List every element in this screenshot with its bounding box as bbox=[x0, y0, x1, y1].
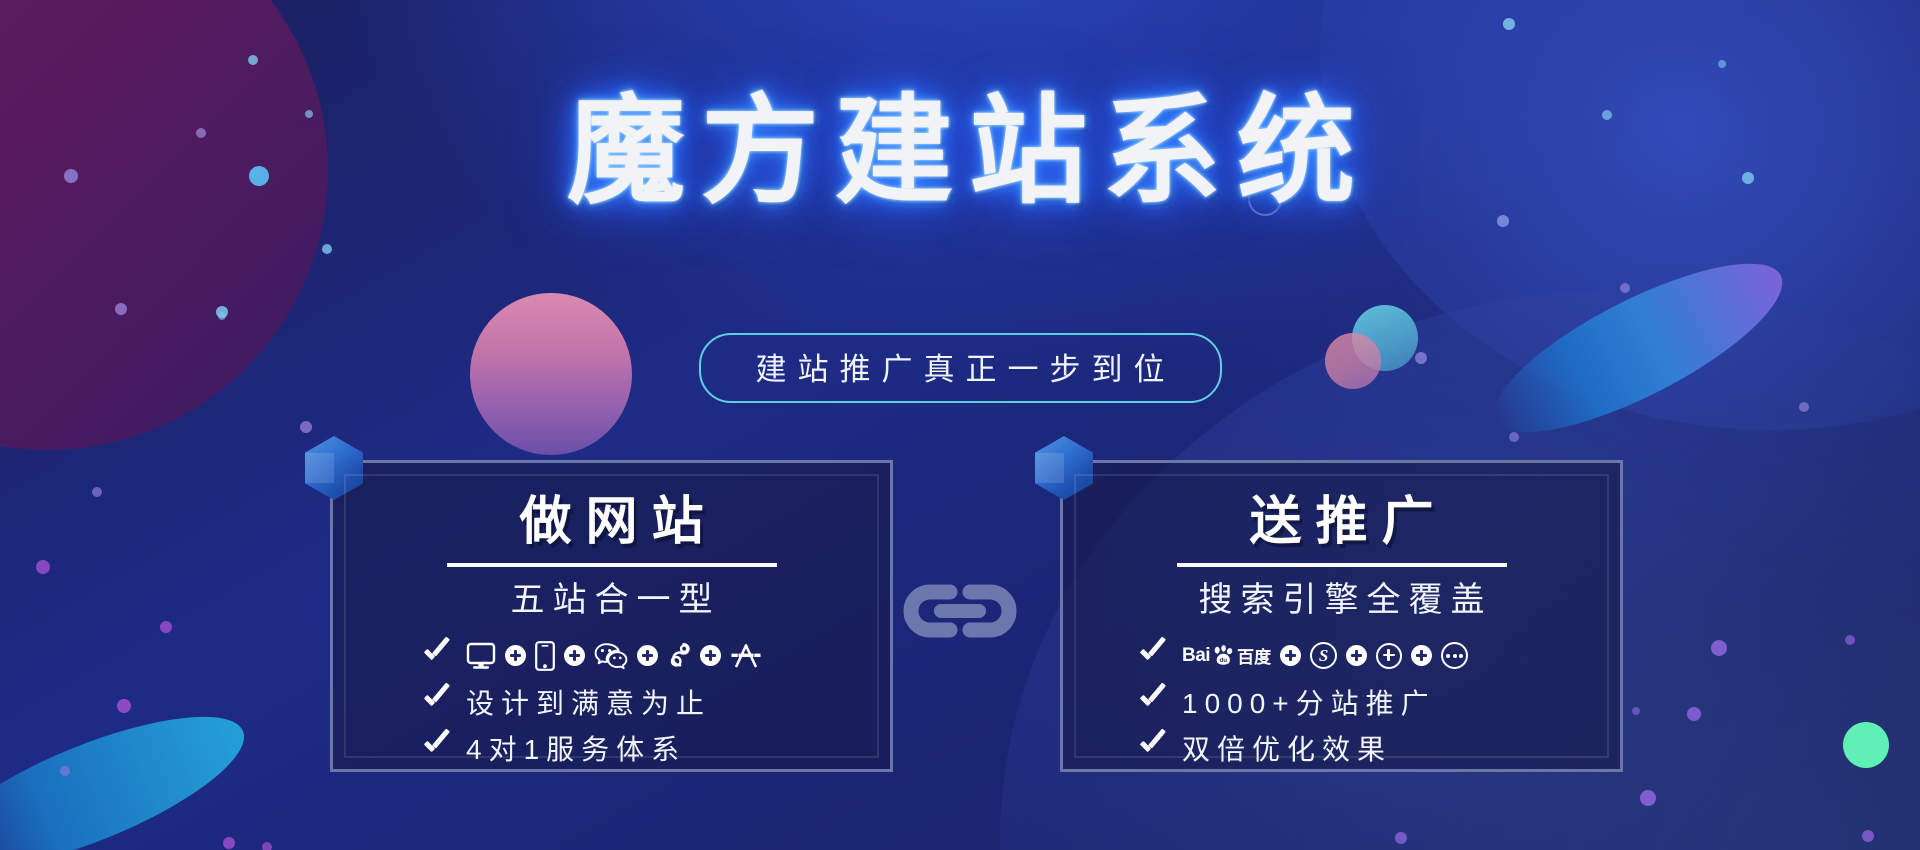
decor-dot bbox=[1718, 60, 1726, 68]
check-icon bbox=[422, 691, 452, 713]
panel-left-title: 做网站 bbox=[346, 492, 877, 552]
decor-dot bbox=[1862, 830, 1874, 842]
check-icon bbox=[1138, 691, 1168, 713]
bullet-row: 1000+分站推广 bbox=[1138, 681, 1607, 723]
subtitle-block: 建站推广真正一步到位 bbox=[0, 333, 1920, 403]
bullet-row-icons: Bai du 百 bbox=[1138, 635, 1607, 677]
weibo-icon bbox=[667, 641, 691, 671]
decor-dot bbox=[218, 312, 226, 320]
bullet-row: 4对1服务体系 bbox=[422, 727, 877, 769]
appstore-icon bbox=[730, 642, 762, 670]
baidu-icon: Bai du 百 bbox=[1182, 643, 1271, 669]
panel-left-bullets: 设计到满意为止 4对1服务体系 bbox=[346, 635, 877, 769]
panel-right-divider bbox=[1177, 563, 1507, 567]
decor-dot bbox=[1799, 402, 1809, 412]
link-icon bbox=[900, 578, 1020, 644]
main-title: 魔方建站系统 bbox=[549, 88, 1371, 215]
plus-icon bbox=[637, 645, 658, 666]
subtitle-pill: 建站推广真正一步到位 bbox=[699, 333, 1222, 403]
plus-icon bbox=[505, 645, 526, 666]
decor-dot bbox=[1640, 790, 1656, 806]
check-icon bbox=[1138, 737, 1168, 759]
decor-dot bbox=[262, 842, 272, 850]
bullet-row-icons bbox=[422, 635, 877, 677]
svg-text:du: du bbox=[1220, 657, 1228, 664]
monitor-icon bbox=[466, 642, 496, 670]
panel-left-inner: 做网站 五站合一型 bbox=[344, 474, 879, 758]
plus-icon bbox=[1411, 645, 1432, 666]
decor-dot bbox=[300, 421, 312, 433]
more-icon bbox=[1441, 642, 1468, 669]
plus-icon bbox=[1280, 645, 1301, 666]
bullet-row: 双倍优化效果 bbox=[1138, 727, 1607, 769]
platform-icon-row bbox=[466, 641, 762, 671]
bullet-text: 1000+分站推广 bbox=[1182, 682, 1436, 722]
panel-left-subtitle: 五站合一型 bbox=[346, 578, 877, 622]
decor-dot bbox=[1497, 215, 1509, 227]
wechat-icon bbox=[594, 642, 628, 670]
decor-dot bbox=[1395, 832, 1407, 844]
baidu-latin-text: Bai bbox=[1182, 645, 1210, 667]
sogou-icon: S bbox=[1310, 642, 1337, 669]
decor-dot bbox=[115, 303, 127, 315]
sogou-letter: S bbox=[1319, 647, 1328, 664]
mobile-icon bbox=[535, 641, 555, 671]
panel-make-website[interactable]: 做网站 五站合一型 bbox=[330, 460, 893, 772]
decor-dot bbox=[248, 55, 258, 65]
panel-left-divider bbox=[447, 563, 777, 567]
360-icon bbox=[1376, 643, 1402, 669]
search-engine-icon-row: Bai du 百 bbox=[1182, 642, 1468, 669]
bullet-text: 4对1服务体系 bbox=[466, 728, 686, 768]
decor-dot bbox=[322, 244, 332, 254]
check-icon bbox=[1138, 645, 1168, 667]
baidu-paw-mark: du bbox=[1211, 645, 1236, 667]
panel-right-bullets: Bai du 百 bbox=[1076, 635, 1607, 769]
subtitle-text: 建站推广真正一步到位 bbox=[745, 344, 1176, 389]
promo-banner: 魔方建站系统 建站推广真正一步到位 做网站 五站合一型 bbox=[0, 0, 1920, 850]
title-block: 魔方建站系统 bbox=[0, 88, 1920, 215]
panel-right-subtitle: 搜索引擎全覆盖 bbox=[1076, 578, 1607, 622]
check-icon bbox=[422, 645, 452, 667]
plus-icon bbox=[700, 645, 721, 666]
bullet-row: 设计到满意为止 bbox=[422, 681, 877, 723]
plus-icon bbox=[564, 645, 585, 666]
decor-dot bbox=[1503, 18, 1515, 30]
decor-dot bbox=[223, 837, 235, 849]
bullet-text: 双倍优化效果 bbox=[1182, 728, 1392, 768]
baidu-cn-text: 百度 bbox=[1237, 643, 1271, 668]
check-icon bbox=[422, 737, 452, 759]
panel-right-inner: 送推广 搜索引擎全覆盖 Bai bbox=[1074, 474, 1609, 758]
plus-icon bbox=[1346, 645, 1367, 666]
decor-dot bbox=[1620, 283, 1630, 293]
bullet-text: 设计到满意为止 bbox=[466, 682, 711, 722]
decor-dot bbox=[1509, 432, 1519, 442]
panel-right-title: 送推广 bbox=[1076, 492, 1607, 552]
panel-free-promotion[interactable]: 送推广 搜索引擎全覆盖 Bai bbox=[1060, 460, 1623, 772]
